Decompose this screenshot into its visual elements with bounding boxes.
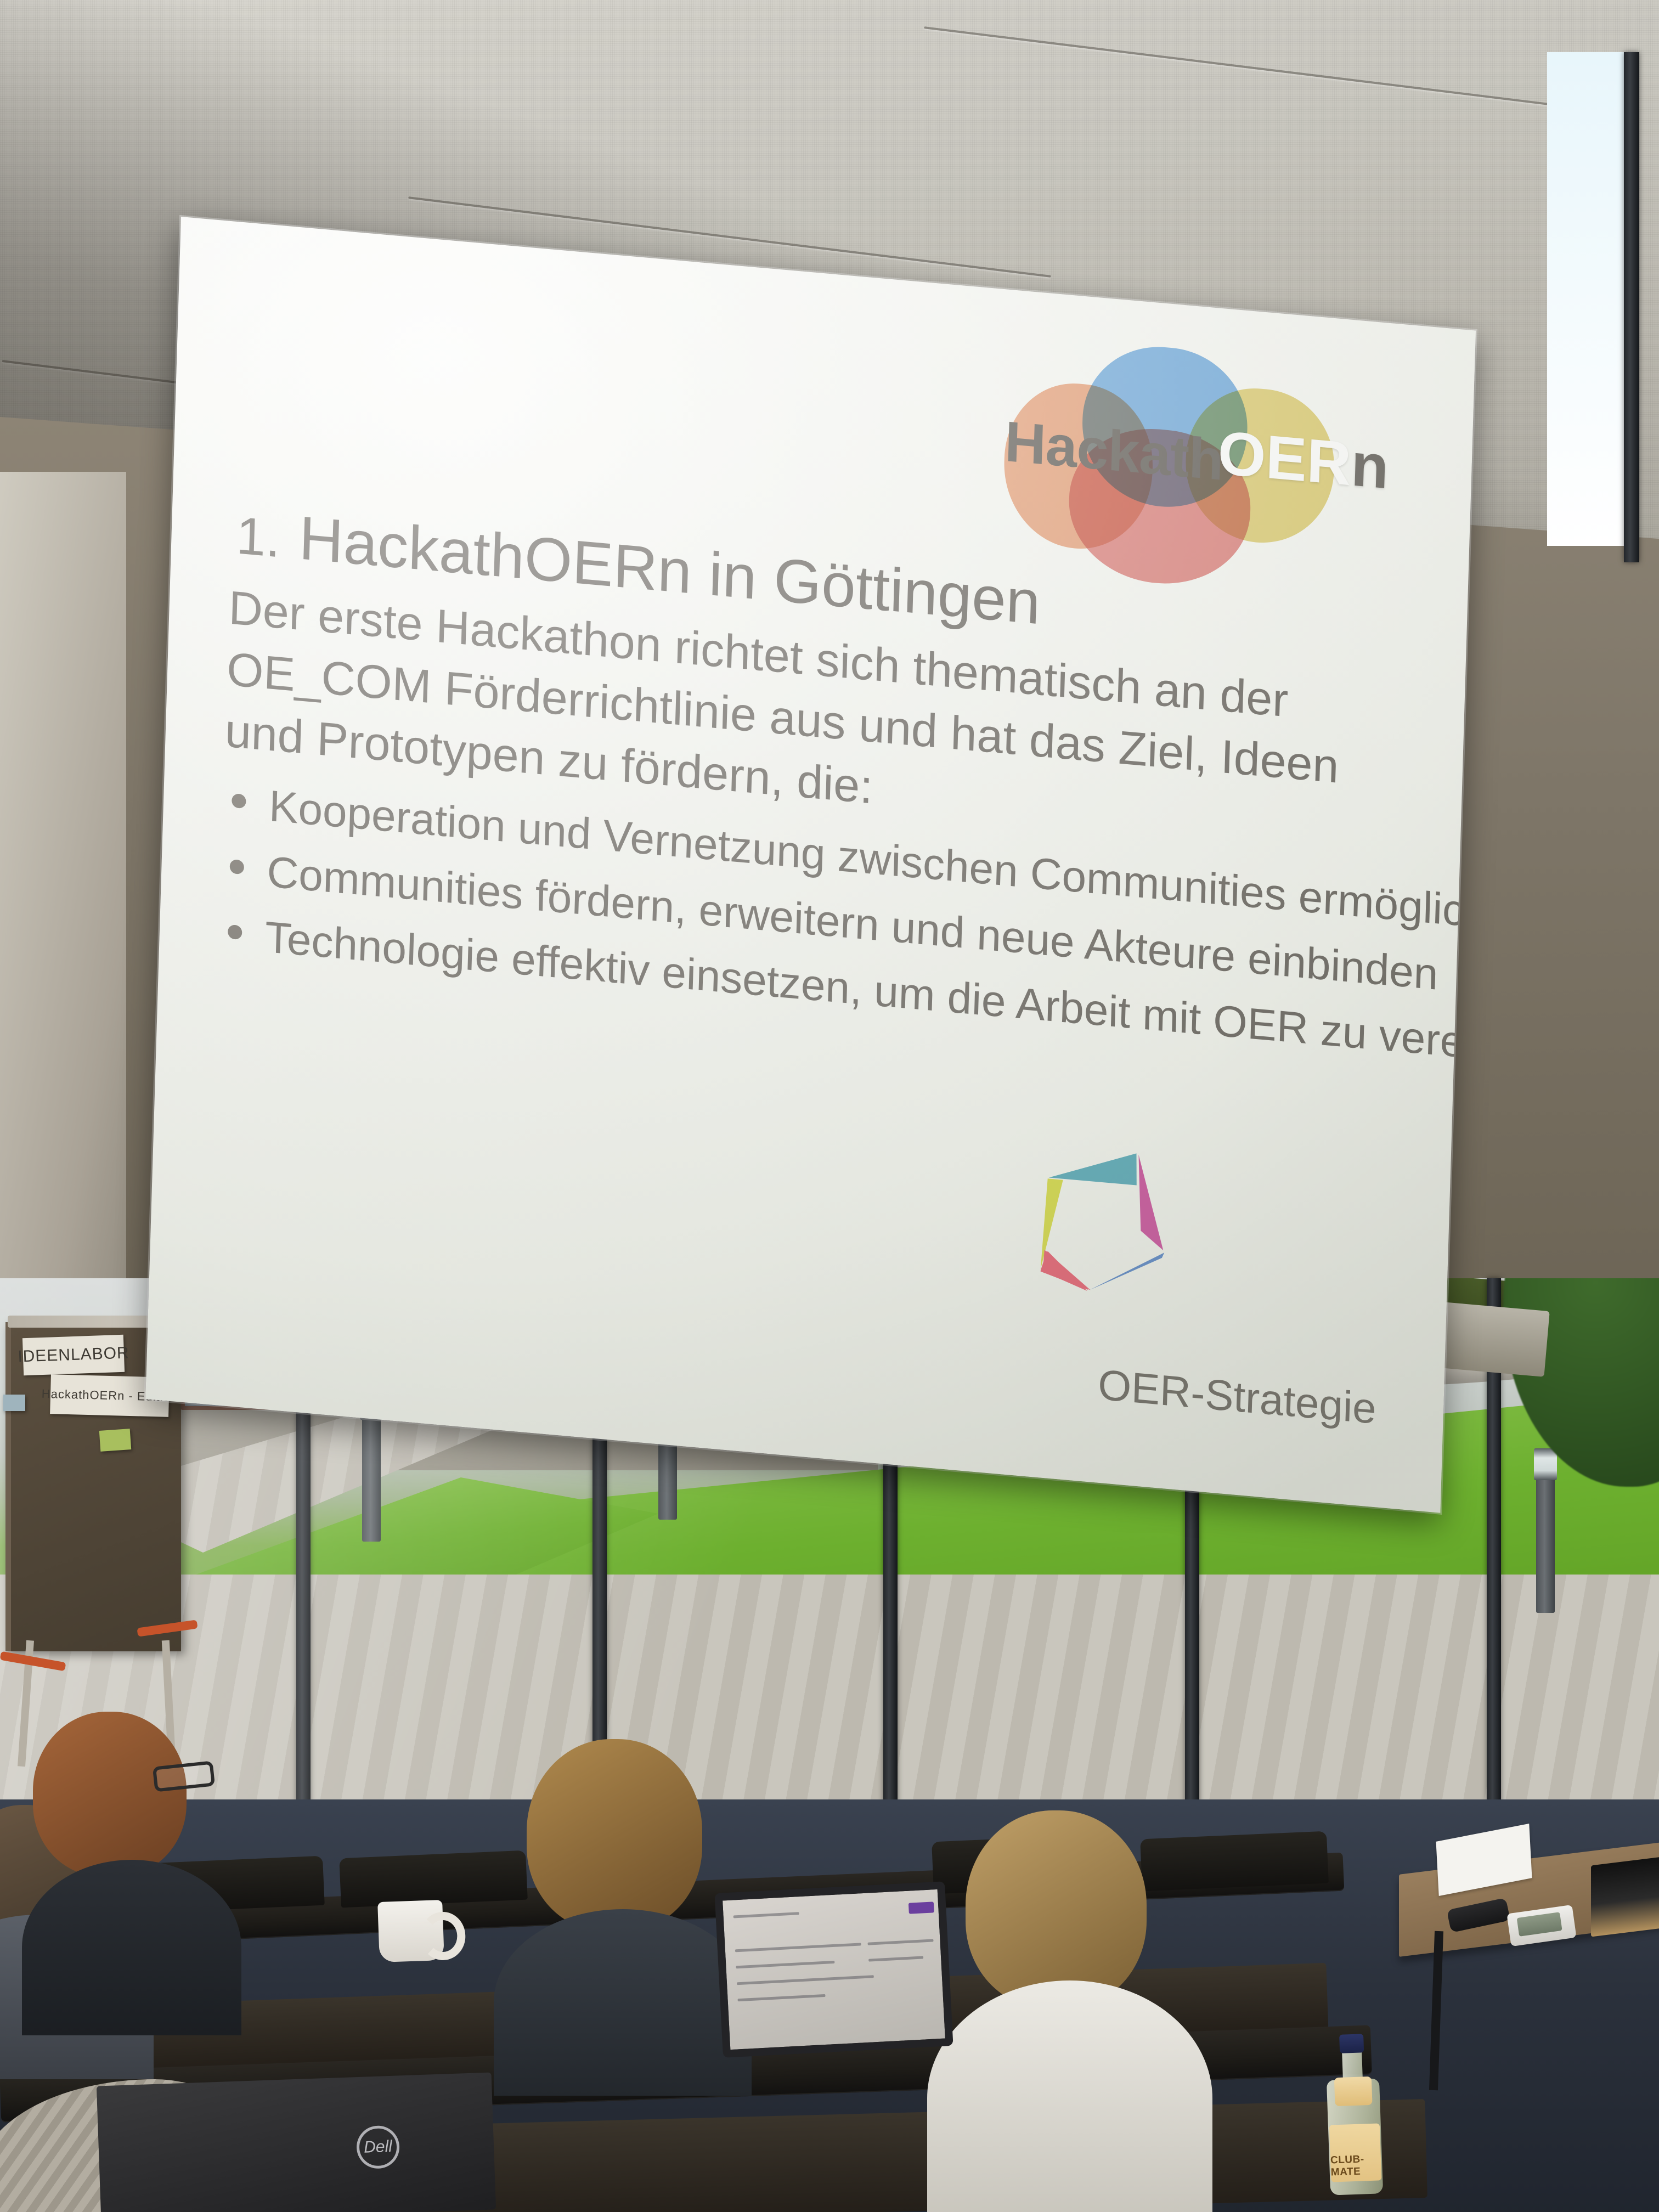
left-wall bbox=[0, 472, 126, 1404]
attendee-laptop-closed[interactable]: Dell bbox=[97, 2073, 496, 2212]
screen-light-falloff bbox=[145, 217, 1476, 1513]
attendee-shoulders bbox=[494, 1909, 752, 2096]
attendee-head bbox=[33, 1712, 187, 1876]
dell-logo: Dell bbox=[356, 2125, 400, 2169]
lectern-equipment-rack bbox=[1591, 1854, 1659, 1937]
lecture-hall-photo: IDEENLABOR HackathOERn - Edition Hackath… bbox=[0, 0, 1659, 2212]
tall-window-bright bbox=[1547, 52, 1629, 546]
attendee-shoulders bbox=[22, 1860, 241, 2035]
pinboard-note-ideenlabor-text: IDEENLABOR bbox=[18, 1344, 129, 1366]
attendee-laptop-open[interactable] bbox=[714, 1881, 953, 2058]
bottle-label: CLUB-MATE bbox=[1329, 2123, 1382, 2182]
pinboard-sticky-blue bbox=[3, 1395, 25, 1411]
bottle-cap bbox=[1339, 2034, 1364, 2053]
pinboard-sticky-green bbox=[99, 1429, 132, 1452]
bottle-neck-label bbox=[1334, 2076, 1373, 2106]
bottle-label-text: CLUB-MATE bbox=[1330, 2153, 1382, 2182]
seat-back bbox=[339, 1850, 528, 1908]
attendee-head bbox=[527, 1739, 702, 1931]
window-mullion bbox=[1624, 52, 1639, 562]
projection-screen[interactable]: Hackath OERn 1.HackathOERn in Göttingen … bbox=[145, 217, 1476, 1513]
pinboard-note-ideenlabor: IDEENLABOR bbox=[22, 1335, 125, 1375]
attendee-head bbox=[966, 1810, 1147, 2008]
coffee-mug[interactable] bbox=[377, 1900, 444, 1962]
attendee-shoulders bbox=[927, 1980, 1212, 2212]
club-mate-bottle[interactable]: CLUB-MATE bbox=[1325, 2029, 1383, 2195]
seat-back bbox=[1140, 1831, 1329, 1892]
